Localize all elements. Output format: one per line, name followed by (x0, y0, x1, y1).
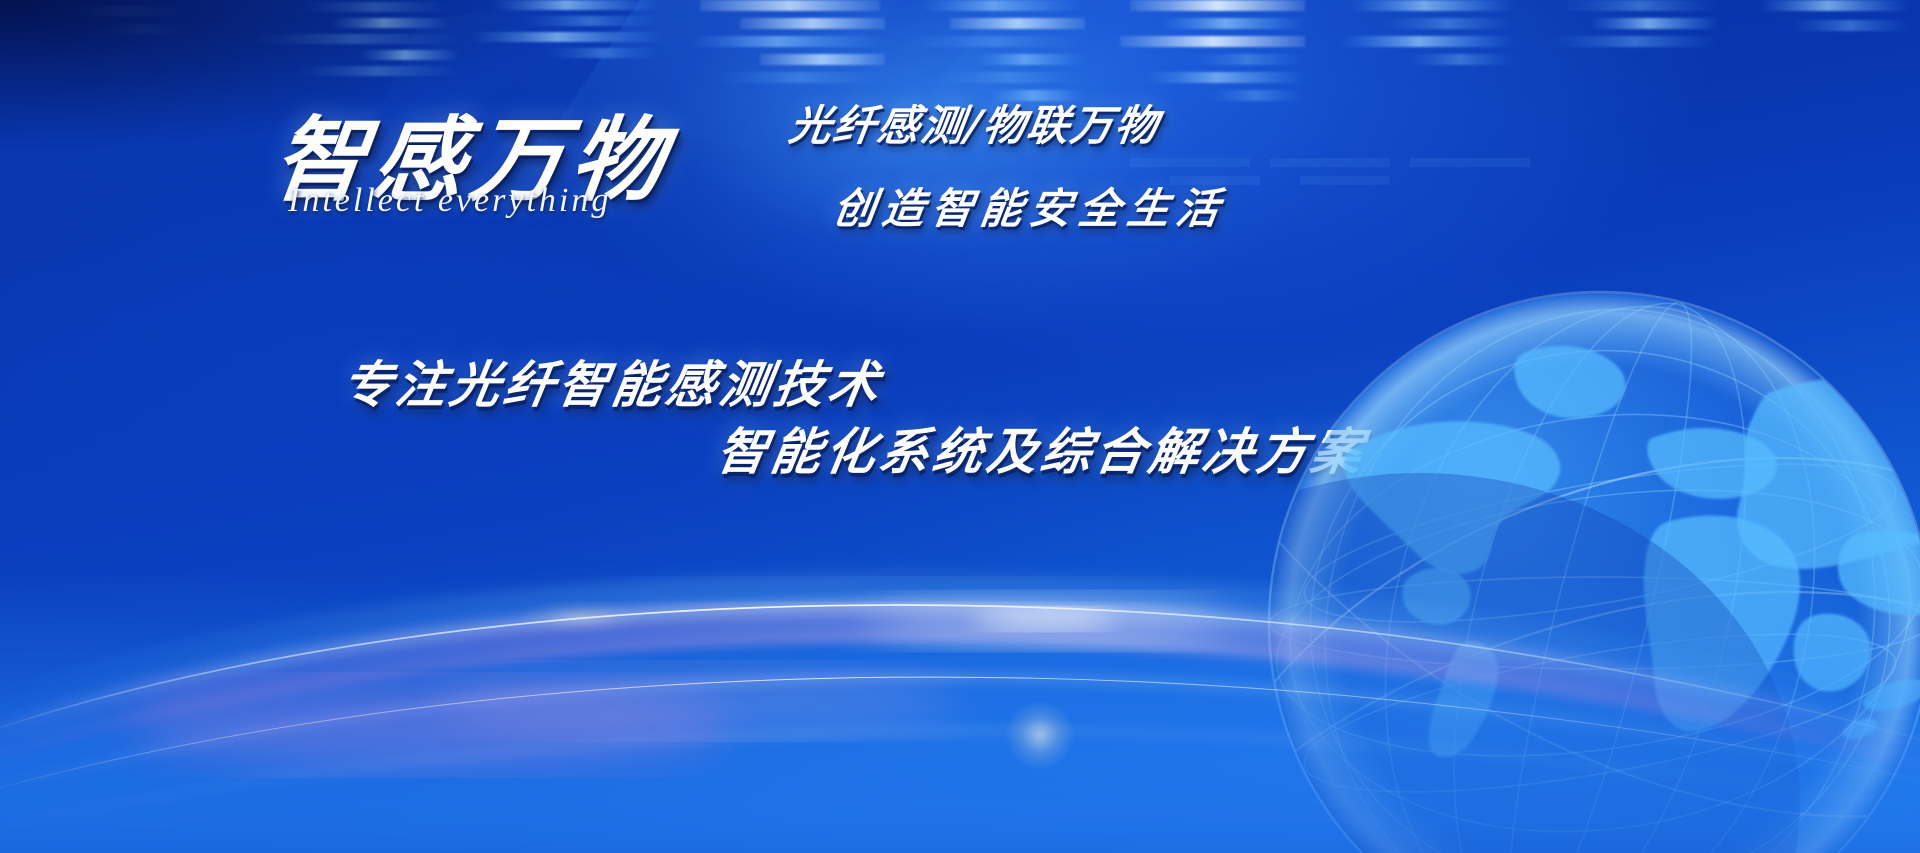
globe-earth-graphic (1220, 243, 1920, 853)
globe-svg (1220, 243, 1920, 853)
slogan-block: 光纤感测/物联万物 创造智能安全生活 (790, 92, 1226, 236)
focus-line-1: 专注光纤智能感测技术 (337, 345, 888, 417)
headline-english: Intellect everything (288, 182, 611, 220)
slogan-line-1: 光纤感测/物联万物 (786, 92, 1231, 153)
slogan-line-2: 创造智能安全生活 (830, 175, 1231, 236)
promotional-banner: 智感万物 Intellect everything 光纤感测/物联万物 创造智能… (0, 0, 1920, 853)
